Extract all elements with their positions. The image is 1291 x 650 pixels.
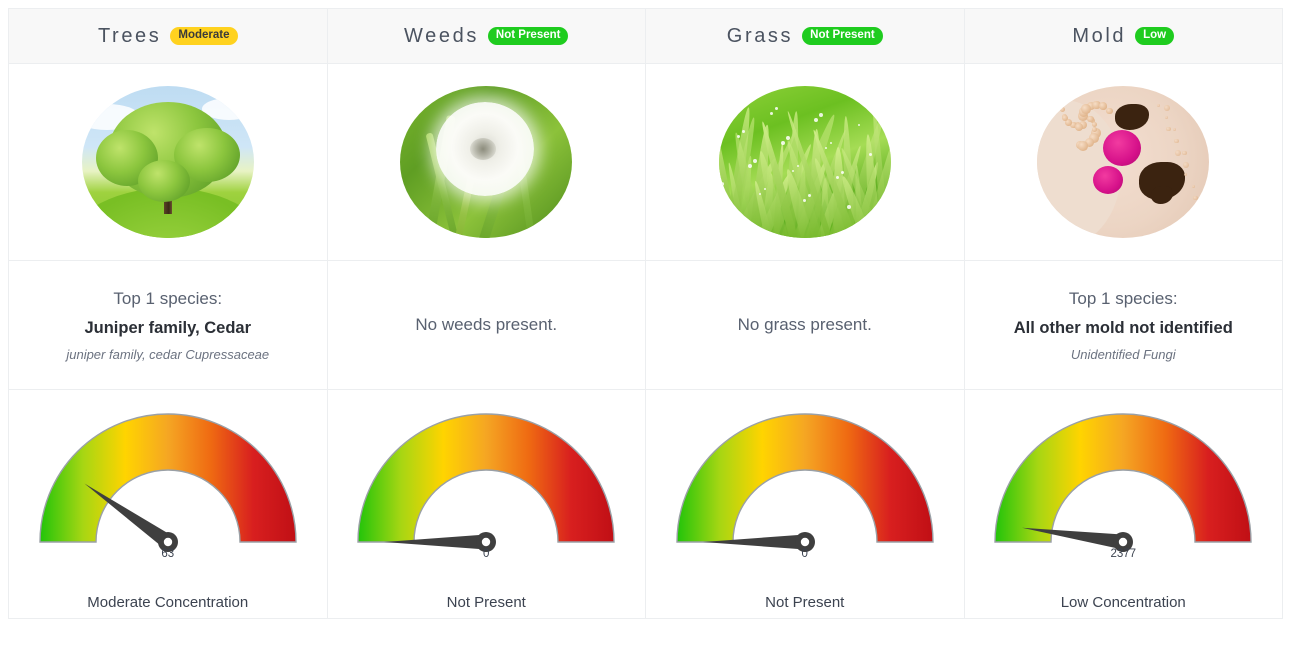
header-cell-weeds: Weeds Not Present xyxy=(327,9,646,64)
gauge-cell-weeds: 0 Not Present xyxy=(327,390,646,619)
gauge-arc xyxy=(40,414,296,542)
gauge-caption-mold: Low Concentration xyxy=(1061,594,1186,611)
gauge-caption-weeds: Not Present xyxy=(447,594,526,611)
gauge-mold: 2377 xyxy=(989,408,1257,564)
image-cell-grass xyxy=(646,64,965,261)
table-species-row: Top 1 species: Juniper family, Cedar jun… xyxy=(9,261,1283,390)
species-cell-grass: No grass present. xyxy=(646,261,965,390)
gauge-arc xyxy=(358,414,614,542)
gauge-svg-trees xyxy=(34,408,302,564)
gauge-caption-grass: Not Present xyxy=(765,594,844,611)
species-heading-trees: Top 1 species: xyxy=(19,289,317,309)
image-cell-weeds xyxy=(327,64,646,261)
gauge-value-mold: 2377 xyxy=(989,548,1257,560)
category-title-grass: Grass xyxy=(727,26,793,46)
gauge-value-grass: 0 xyxy=(671,548,939,560)
status-badge-grass: Not Present xyxy=(802,27,883,46)
category-title-weeds: Weeds xyxy=(404,26,479,46)
gauge-cell-grass: 0 Not Present xyxy=(646,390,965,619)
gauge-arc xyxy=(995,414,1251,542)
species-empty-grass: No grass present. xyxy=(656,315,954,335)
species-name-mold: All other mold not identified xyxy=(975,319,1273,338)
species-heading-mold: Top 1 species: xyxy=(975,289,1273,309)
mold-micrograph-icon xyxy=(1037,86,1209,238)
species-name-trees: Juniper family, Cedar xyxy=(19,319,317,338)
table-gauge-row: 63 Moderate Concentration 0 Not Present … xyxy=(9,390,1283,619)
gauge-caption-trees: Moderate Concentration xyxy=(87,594,248,611)
species-cell-trees: Top 1 species: Juniper family, Cedar jun… xyxy=(9,261,328,390)
gauge-svg-weeds xyxy=(352,408,620,564)
table-image-row xyxy=(9,64,1283,261)
status-badge-mold: Low xyxy=(1135,27,1174,46)
status-badge-trees: Moderate xyxy=(170,27,237,46)
gauge-cell-mold: 2377 Low Concentration xyxy=(964,390,1283,619)
gauge-svg-mold xyxy=(989,408,1257,564)
gauge-svg-grass xyxy=(671,408,939,564)
header-cell-trees: Trees Moderate xyxy=(9,9,328,64)
gauge-grass: 0 xyxy=(671,408,939,564)
gauge-cell-trees: 63 Moderate Concentration xyxy=(9,390,328,619)
category-title-trees: Trees xyxy=(98,26,161,46)
header-cell-mold: Mold Low xyxy=(964,9,1283,64)
gauge-value-weeds: 0 xyxy=(352,548,620,560)
table-header-row: Trees Moderate Weeds Not Present Grass N… xyxy=(9,9,1283,64)
category-title-mold: Mold xyxy=(1072,26,1126,46)
gauge-trees: 63 xyxy=(34,408,302,564)
dandelion-photo-icon xyxy=(400,86,572,238)
header-cell-grass: Grass Not Present xyxy=(646,9,965,64)
species-cell-mold: Top 1 species: All other mold not identi… xyxy=(964,261,1283,390)
tree-photo-icon xyxy=(82,86,254,238)
species-empty-weeds: No weeds present. xyxy=(338,315,636,335)
species-cell-weeds: No weeds present. xyxy=(327,261,646,390)
status-badge-weeds: Not Present xyxy=(488,27,569,46)
allergen-summary-table: Trees Moderate Weeds Not Present Grass N… xyxy=(8,8,1283,619)
image-cell-trees xyxy=(9,64,328,261)
gauge-value-trees: 63 xyxy=(34,548,302,560)
image-cell-mold xyxy=(964,64,1283,261)
species-latin-mold: Unidentified Fungi xyxy=(975,347,1273,362)
grass-photo-icon xyxy=(719,86,891,238)
gauge-arc xyxy=(677,414,933,542)
gauge-weeds: 0 xyxy=(352,408,620,564)
species-latin-trees: juniper family, cedar Cupressaceae xyxy=(19,347,317,362)
